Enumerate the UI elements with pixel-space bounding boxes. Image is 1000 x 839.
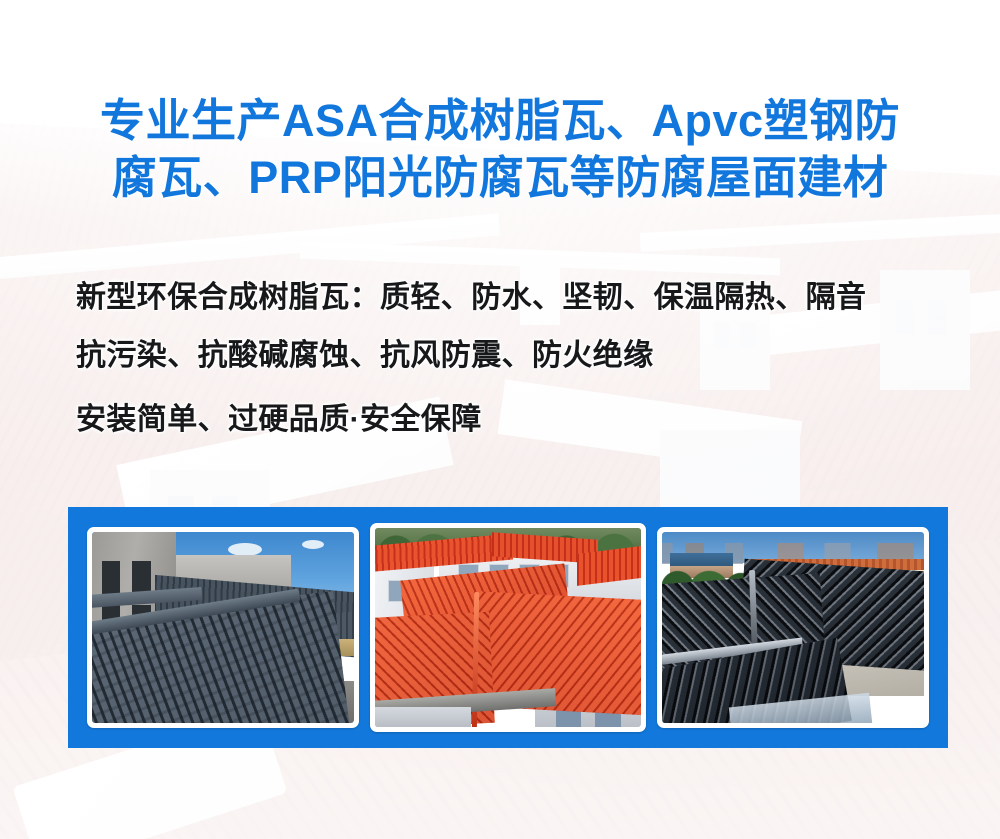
feature-copy: 新型环保合成树脂瓦：质轻、防水、坚韧、保温隔热、隔音 抗污染、抗酸碱腐蚀、抗风防… bbox=[76, 272, 976, 438]
charcoal-resin-tile-roof-photo[interactable] bbox=[87, 527, 359, 728]
page-title: 专业生产ASA合成树脂瓦、Apvc塑钢防 腐瓦、PRP阳光防腐瓦等防腐屋面建材 bbox=[0, 92, 1000, 206]
headline-line-1: 专业生产ASA合成树脂瓦、Apvc塑钢防 bbox=[0, 92, 1000, 149]
window bbox=[102, 561, 120, 594]
feature-line-1: 新型环保合成树脂瓦：质轻、防水、坚韧、保温隔热、隔音 bbox=[76, 272, 976, 316]
promo-banner-page: 专业生产ASA合成树脂瓦、Apvc塑钢防 腐瓦、PRP阳光防腐瓦等防腐屋面建材 … bbox=[0, 0, 1000, 839]
cloud bbox=[302, 540, 324, 549]
photo-1-image bbox=[92, 532, 354, 723]
window bbox=[132, 561, 150, 594]
red-resin-tile-roof-photo[interactable] bbox=[370, 523, 646, 732]
headline-line-2: 腐瓦、PRP阳光防腐瓦等防腐屋面建材 bbox=[0, 149, 1000, 206]
feature-line-2: 抗污染、抗酸碱腐蚀、抗风防震、防火绝缘 bbox=[76, 330, 976, 374]
photo-3-image bbox=[662, 532, 924, 723]
lower-left-wall bbox=[375, 707, 471, 727]
black-resin-tile-roof-photo[interactable] bbox=[657, 527, 929, 728]
feature-line-3: 安装简单、过硬品质·安全保障 bbox=[76, 394, 976, 438]
product-photo-gallery bbox=[68, 507, 948, 748]
photo-2-image bbox=[375, 528, 641, 727]
